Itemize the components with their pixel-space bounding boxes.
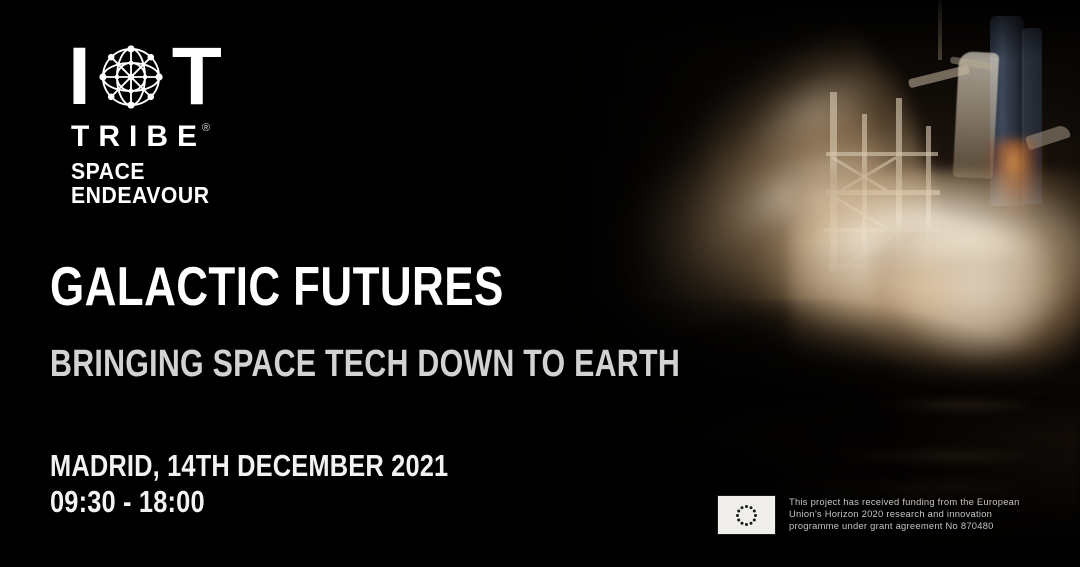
logo-wordmark-iot: I [68,38,308,116]
event-details-block: MADRID, 14TH DECEMBER 2021 09:30 - 18:00 [50,448,536,520]
event-title: GALACTIC FUTURES [50,258,562,314]
logo-wordmark-tribe: TRIBE ® [71,122,308,152]
registered-trademark-icon: ® [202,122,210,135]
logo-letter-i: I [68,38,90,116]
event-poster: I [0,0,1080,567]
eu-funding-disclaimer: This project has received funding from t… [718,496,1020,534]
logo-programme-name: SPACE ENDEAVOUR [71,159,289,207]
logo-letter-t: T [172,38,221,116]
iot-tribe-logo: I [68,38,308,207]
event-location-date: MADRID, 14TH DECEMBER 2021 [50,448,448,484]
headline-block: GALACTIC FUTURES BRINGING SPACE TECH DOW… [50,258,690,384]
eu-funding-line-1: This project has received funding from t… [789,496,1020,508]
event-time: 09:30 - 18:00 [50,484,448,520]
iot-network-globe-icon [92,38,170,116]
logo-tribe-text: TRIBE [71,122,206,152]
event-subtitle: BRINGING SPACE TECH DOWN TO EARTH [50,344,562,384]
eu-funding-line-3: programme under grant agreement No 87048… [789,520,1020,532]
european-union-flag-icon [718,496,775,534]
eu-funding-line-2: Union’s Horizon 2020 research and innova… [789,508,1020,520]
eu-funding-text: This project has received funding from t… [789,496,1020,533]
